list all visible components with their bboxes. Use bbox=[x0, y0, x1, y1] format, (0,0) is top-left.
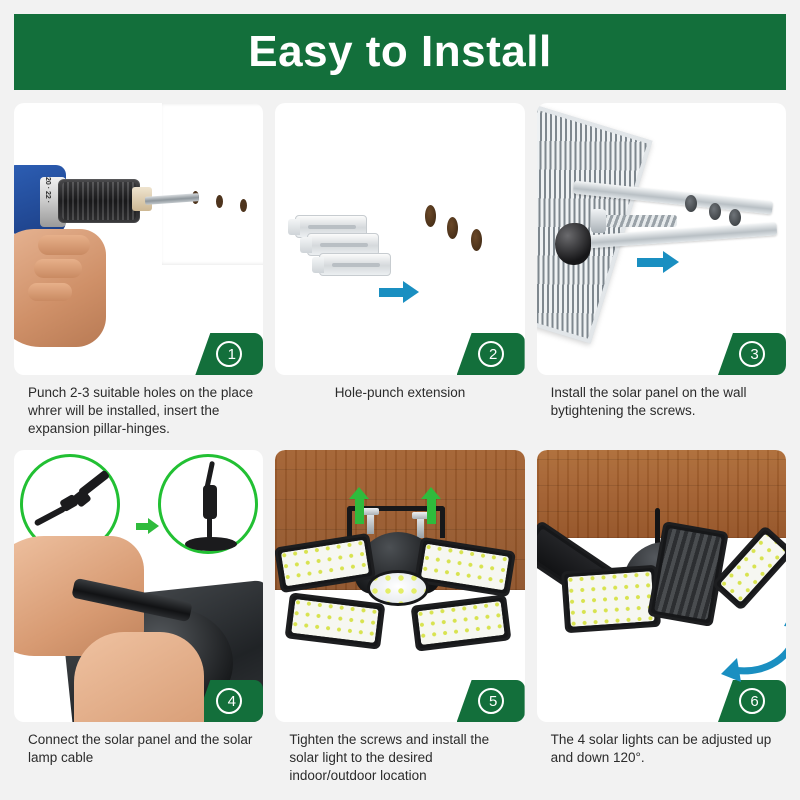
drill-hole bbox=[240, 199, 247, 212]
header-banner: Easy to Install bbox=[14, 14, 786, 90]
step-card-5[interactable]: 5 Tighten the screws and install the sol… bbox=[275, 450, 524, 785]
step-image-6: 6 bbox=[537, 450, 786, 722]
step-badge-3: 3 bbox=[718, 333, 786, 375]
rotation-arrow-icon bbox=[697, 600, 786, 690]
screw-icon bbox=[367, 512, 374, 534]
bracket-slot bbox=[729, 209, 741, 226]
center-lens-icon bbox=[367, 570, 429, 606]
connector-inset-joined bbox=[158, 454, 258, 554]
green-arrow-up-icon bbox=[427, 498, 436, 524]
step-image-5: 5 bbox=[275, 450, 524, 722]
wall-anchor-icon bbox=[319, 253, 391, 276]
step-badge-5: 5 bbox=[457, 680, 525, 722]
led-blade-icon bbox=[561, 565, 661, 634]
step-caption-1: Punch 2-3 suitable holes on the place wh… bbox=[14, 384, 263, 438]
drill-hole bbox=[447, 217, 458, 239]
screw-icon bbox=[601, 215, 677, 227]
step-badge-1: 1 bbox=[195, 333, 263, 375]
drill-body bbox=[58, 179, 140, 223]
bracket-knob bbox=[555, 223, 591, 265]
step-card-6[interactable]: 6 The 4 solar lights can be adjusted up … bbox=[537, 450, 786, 785]
hand-icon bbox=[14, 229, 106, 347]
bracket-slot bbox=[709, 203, 721, 220]
green-arrow-icon bbox=[136, 518, 159, 534]
step-card-1[interactable]: 20 · 22 · 1 Punch 2-3 suitable holes on … bbox=[14, 103, 263, 438]
drill-hole bbox=[216, 195, 223, 208]
led-blade-icon bbox=[411, 594, 512, 651]
step-caption-3: Install the solar panel on the wall byti… bbox=[537, 384, 786, 438]
step-image-3: 3 bbox=[537, 103, 786, 375]
step-image-2: 2 bbox=[275, 103, 524, 375]
wood-wall-icon bbox=[162, 103, 263, 265]
drill-hole bbox=[471, 229, 482, 251]
drill-hole bbox=[425, 205, 436, 227]
screw-icon bbox=[417, 516, 424, 538]
step-caption-4: Connect the solar panel and the solar la… bbox=[14, 731, 263, 785]
wood-wall-icon bbox=[321, 105, 524, 317]
screw-head-icon bbox=[591, 209, 606, 233]
green-arrow-up-icon bbox=[355, 498, 364, 524]
steps-grid: 20 · 22 · 1 Punch 2-3 suitable holes on … bbox=[14, 103, 786, 785]
step-card-3[interactable]: 3 Install the solar panel on the wall by… bbox=[537, 103, 786, 438]
bracket-slot bbox=[685, 195, 697, 212]
wood-ceiling-icon bbox=[537, 450, 786, 538]
page-title: Easy to Install bbox=[248, 30, 551, 74]
step-image-1: 20 · 22 · 1 bbox=[14, 103, 263, 375]
step-card-4[interactable]: 4 Connect the solar panel and the solar … bbox=[14, 450, 263, 785]
step-image-4: 4 bbox=[14, 450, 263, 722]
step-card-2[interactable]: 2 Hole-punch extension bbox=[275, 103, 524, 438]
step-caption-5: Tighten the screws and install the solar… bbox=[275, 731, 524, 785]
blue-arrow-icon bbox=[379, 281, 419, 303]
step-caption-2: Hole-punch extension bbox=[275, 384, 524, 438]
step-caption-6: The 4 solar lights can be adjusted up an… bbox=[537, 731, 786, 785]
blue-arrow-icon bbox=[637, 251, 679, 273]
step-badge-2: 2 bbox=[457, 333, 525, 375]
led-blade-icon bbox=[285, 592, 386, 649]
hand-icon bbox=[74, 632, 204, 722]
